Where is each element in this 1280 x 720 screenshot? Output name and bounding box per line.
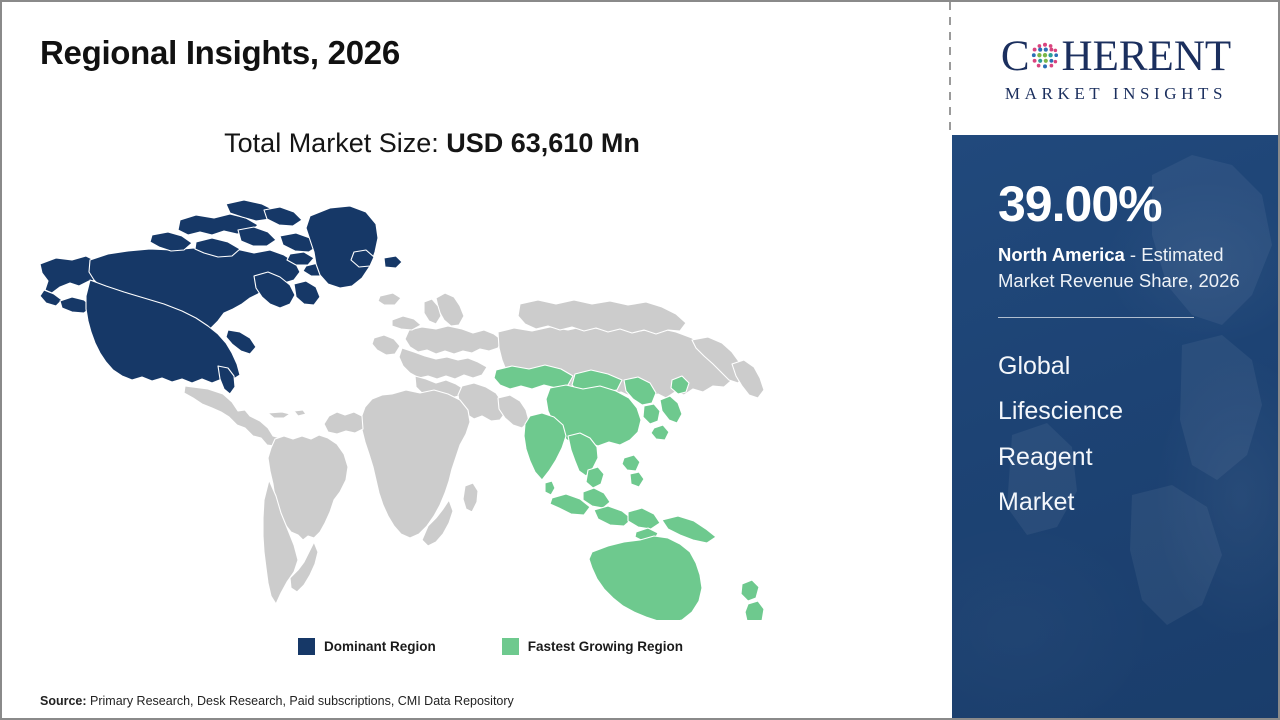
stat-percentage: 39.00% — [998, 179, 1250, 229]
main-content-area: Regional Insights, 2026 Total Market Siz… — [2, 2, 951, 718]
legend-swatch-fastest-growing — [502, 638, 519, 655]
world-map-svg — [32, 180, 832, 620]
map-region-asia-pacific — [494, 365, 764, 620]
legend-item-fastest-growing: Fastest Growing Region — [502, 638, 683, 655]
stat-description: North America - Estimated Market Revenue… — [998, 242, 1250, 295]
map-legend: Dominant Region Fastest Growing Region — [298, 638, 683, 655]
stat-content: 39.00% North America - Estimated Market … — [952, 135, 1280, 526]
logo-wordmark: C — [1001, 33, 1231, 79]
infographic-root: Regional Insights, 2026 Total Market Siz… — [0, 0, 1280, 720]
logo-letter-c: C — [1001, 35, 1029, 78]
total-market-size: Total Market Size: USD 63,610 Mn — [2, 128, 862, 159]
legend-label-dominant: Dominant Region — [324, 639, 436, 654]
vertical-dashed-divider — [949, 2, 951, 135]
market-name-line-2: Lifescience — [998, 389, 1228, 435]
dotted-sphere-icon — [1029, 40, 1061, 72]
source-label: Source: — [40, 694, 87, 708]
market-size-label: Total Market Size: — [224, 128, 439, 158]
market-size-value: USD 63,610 Mn — [446, 128, 640, 158]
logo-letters-rest: HERENT — [1062, 35, 1232, 78]
legend-item-dominant: Dominant Region — [298, 638, 436, 655]
page-title: Regional Insights, 2026 — [40, 34, 400, 72]
market-name-line-3: Reagent — [998, 435, 1228, 481]
logo-subtitle: MARKET INSIGHTS — [1005, 84, 1227, 104]
market-name-line-1: Global — [998, 344, 1228, 390]
source-note: Source: Primary Research, Desk Research,… — [40, 694, 514, 708]
stat-region-name: North America — [998, 244, 1125, 265]
market-name: Global Lifescience Reagent Market — [998, 344, 1228, 526]
legend-swatch-dominant — [298, 638, 315, 655]
world-map — [32, 180, 832, 620]
map-region-north-america — [40, 200, 402, 394]
legend-label-fastest-growing: Fastest Growing Region — [528, 639, 683, 654]
source-text: Primary Research, Desk Research, Paid su… — [90, 694, 514, 708]
market-name-line-4: Market — [998, 480, 1228, 526]
stat-panel: 39.00% North America - Estimated Market … — [952, 135, 1280, 718]
stat-divider-rule — [998, 317, 1194, 318]
right-sidebar: C — [952, 2, 1280, 718]
brand-logo: C — [952, 2, 1280, 135]
